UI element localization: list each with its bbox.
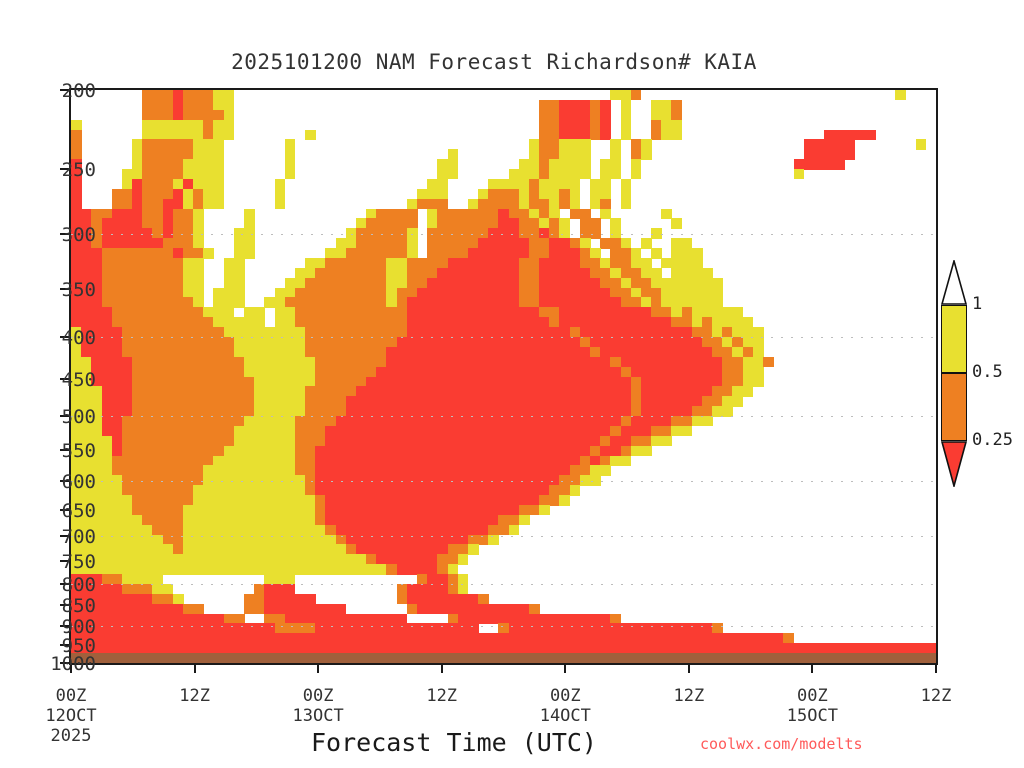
x-tick-line3: 2025 <box>1 726 141 746</box>
y-tick-label: 650 <box>0 500 96 522</box>
x-tick-line1: 12Z <box>125 686 265 706</box>
y-tick-label: 300 <box>0 224 96 246</box>
y-tick-label: 350 <box>0 279 96 301</box>
y-tick-label: 550 <box>0 440 96 462</box>
x-tick-label: 12Z <box>125 686 265 726</box>
y-tick-label: 500 <box>0 406 96 428</box>
x-tick-line1: 00Z <box>248 686 388 706</box>
y-tick-label: 450 <box>0 369 96 391</box>
colorbar-arrow-up-icon <box>941 260 967 305</box>
x-tick-line2 <box>619 706 759 726</box>
colorbar-tick-0_5: 0.5 <box>972 362 1003 382</box>
x-tick-line1: 00Z <box>742 686 882 706</box>
x-tick-line1: 12Z <box>619 686 759 706</box>
x-tick-line2: 13OCT <box>248 706 388 726</box>
colorbar-band-orange <box>941 373 967 441</box>
x-tick-line2 <box>866 706 1006 726</box>
colorbar-tick-1: 1 <box>972 294 982 314</box>
y-tick-label: 750 <box>0 551 96 573</box>
y-tick-label: 850 <box>0 595 96 617</box>
x-tick-mark <box>317 665 319 673</box>
y-tick-label: 400 <box>0 327 96 349</box>
x-tick-line2: 15OCT <box>742 706 882 726</box>
x-tick-line2: 12OCT <box>1 706 141 726</box>
x-tick-mark <box>441 665 443 673</box>
x-tick-label: 12Z <box>372 686 512 726</box>
colorbar-tick-0_25: 0.25 <box>972 430 1013 450</box>
x-axis-title: Forecast Time (UTC) <box>214 728 694 757</box>
x-tick-label: 12Z <box>866 686 1006 726</box>
y-tick-label: 700 <box>0 526 96 548</box>
x-tick-label: 00Z15OCT <box>742 686 882 726</box>
colorbar-arrow-down-icon <box>941 441 967 487</box>
x-tick-line1: 00Z <box>495 686 635 706</box>
x-tick-label: 00Z13OCT <box>248 686 388 726</box>
colorbar-band-yellow <box>941 305 967 373</box>
heatmap-cells <box>71 90 936 663</box>
x-tick-line1: 00Z <box>1 686 141 706</box>
chart-title: 2025101200 NAM Forecast Richardson# KAIA <box>0 50 1024 74</box>
x-tick-line2: 14OCT <box>495 706 635 726</box>
y-tick-label: 600 <box>0 471 96 493</box>
x-tick-mark <box>564 665 566 673</box>
x-tick-mark <box>688 665 690 673</box>
watermark: coolwx.com/modelts <box>700 735 1020 753</box>
y-tick-label: 1000 <box>0 653 96 675</box>
chart-canvas: 2025101200 NAM Forecast Richardson# KAIA… <box>0 0 1024 768</box>
x-tick-line1: 12Z <box>866 686 1006 706</box>
x-tick-label: 12Z <box>619 686 759 726</box>
x-tick-line2 <box>372 706 512 726</box>
x-tick-mark <box>935 665 937 673</box>
x-tick-label: 00Z12OCT2025 <box>1 686 141 746</box>
y-tick-label: 250 <box>0 159 96 181</box>
x-tick-mark <box>194 665 196 673</box>
x-tick-mark <box>70 665 72 673</box>
chart-title-text: 2025101200 NAM Forecast Richardson# KAIA <box>231 50 757 74</box>
colorbar <box>941 305 967 441</box>
y-tick-label: 200 <box>0 80 96 102</box>
heatmap-plot-area <box>69 88 938 665</box>
x-tick-label: 00Z14OCT <box>495 686 635 726</box>
x-tick-line2 <box>125 706 265 726</box>
x-tick-mark <box>811 665 813 673</box>
y-tick-label: 800 <box>0 574 96 596</box>
x-tick-line1: 12Z <box>372 686 512 706</box>
